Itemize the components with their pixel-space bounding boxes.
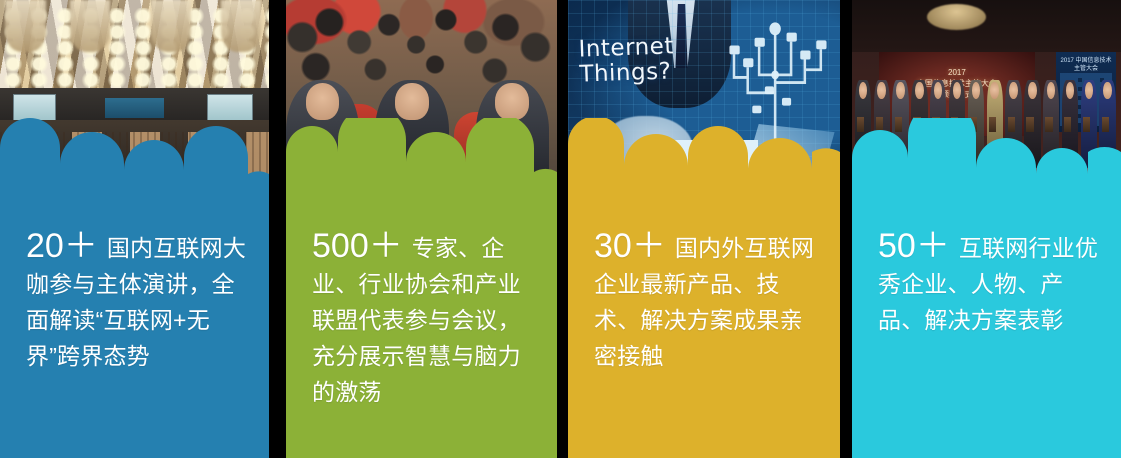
- stat-panel-2[interactable]: 500＋专家、企业、行业协会和产业联盟代表参与会议，充分展示智慧与脑力的激荡: [286, 0, 557, 458]
- scallop-edge-icon: [286, 118, 557, 194]
- panel-4-copy: 50＋互联网行业优秀企业、人物、产品、解决方案表彰: [878, 228, 1105, 338]
- scallop-edge-icon: [852, 118, 1121, 194]
- panel-3-photo-overlay-text: Internet Things?: [578, 34, 675, 87]
- panel-4-stat: 50＋: [878, 227, 950, 265]
- scallop-edge-icon: [568, 118, 840, 194]
- stat-panel-3[interactable]: Internet Things? 30＋国内外互联网企业最新产品、技术、解决方案…: [568, 0, 840, 458]
- panel-2-stat: 500＋: [312, 227, 403, 265]
- scallop-edge-icon: [0, 118, 269, 194]
- panel-1-copy: 20＋国内互联网大咖参与主体演讲，全面解读“互联网+无界”跨界态势: [26, 228, 253, 374]
- panel-2-copy: 500＋专家、企业、行业协会和产业联盟代表参与会议，充分展示智慧与脑力的激荡: [312, 228, 541, 410]
- panel-3-stat: 30＋: [594, 227, 666, 265]
- stat-panel-1[interactable]: 20＋国内互联网大咖参与主体演讲，全面解读“互联网+无界”跨界态势: [0, 0, 269, 458]
- panel-4-side-screen-text: 2017 中国信息技术 主管大会: [1056, 57, 1115, 73]
- stat-panel-4[interactable]: 2017 中国信息技术主管大会 颁奖仪式 2017 中国信息技术 主管大会: [852, 0, 1121, 458]
- panel-3-copy: 30＋国内外互联网企业最新产品、技术、解决方案成果亲密接触: [594, 228, 824, 374]
- stats-banner: 20＋国内互联网大咖参与主体演讲，全面解读“互联网+无界”跨界态势: [0, 0, 1121, 458]
- panel-1-stat: 20＋: [26, 227, 98, 265]
